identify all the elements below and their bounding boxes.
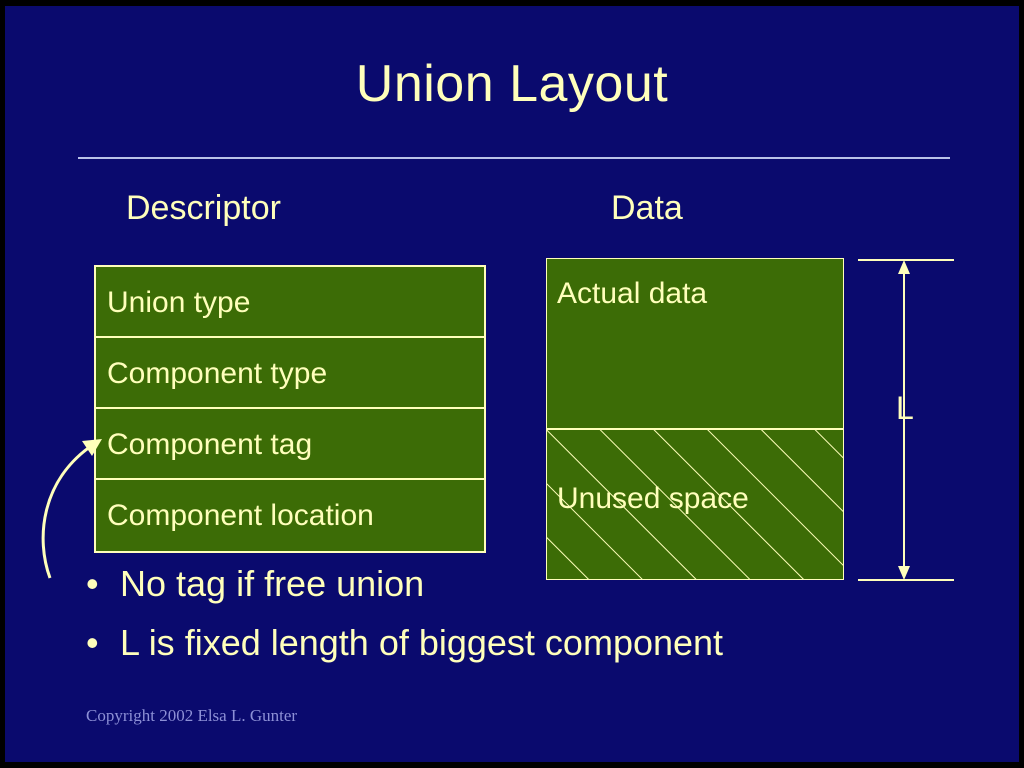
copyright-notice: Copyright 2002 Elsa L. Gunter xyxy=(86,706,297,726)
bullet-item-2: •L is fixed length of biggest component xyxy=(86,622,723,664)
bullet-marker: • xyxy=(86,622,120,664)
bullet-marker: • xyxy=(86,563,120,605)
page-title: Union Layout xyxy=(0,55,1024,113)
descriptor-table: Union type Component type Component tag … xyxy=(94,265,486,553)
descriptor-row-union-type: Union type xyxy=(96,267,484,338)
descriptor-column-header: Descriptor xyxy=(126,189,281,227)
title-divider xyxy=(78,157,950,159)
length-label: L xyxy=(896,390,914,426)
bullet-text: L is fixed length of biggest component xyxy=(120,622,723,663)
slide: Union Layout Descriptor Data Union type … xyxy=(0,0,1024,768)
bullet-item-1: •No tag if free union xyxy=(86,563,424,605)
descriptor-row-component-location: Component location xyxy=(96,480,484,551)
data-column-header: Data xyxy=(611,189,683,227)
pointer-arrow-icon xyxy=(26,420,116,580)
bullet-text: No tag if free union xyxy=(120,563,424,604)
actual-data-label: Actual data xyxy=(557,276,707,312)
descriptor-row-component-tag: Component tag xyxy=(96,409,484,480)
descriptor-row-component-type: Component type xyxy=(96,338,484,409)
unused-space-label: Unused space xyxy=(557,481,749,517)
